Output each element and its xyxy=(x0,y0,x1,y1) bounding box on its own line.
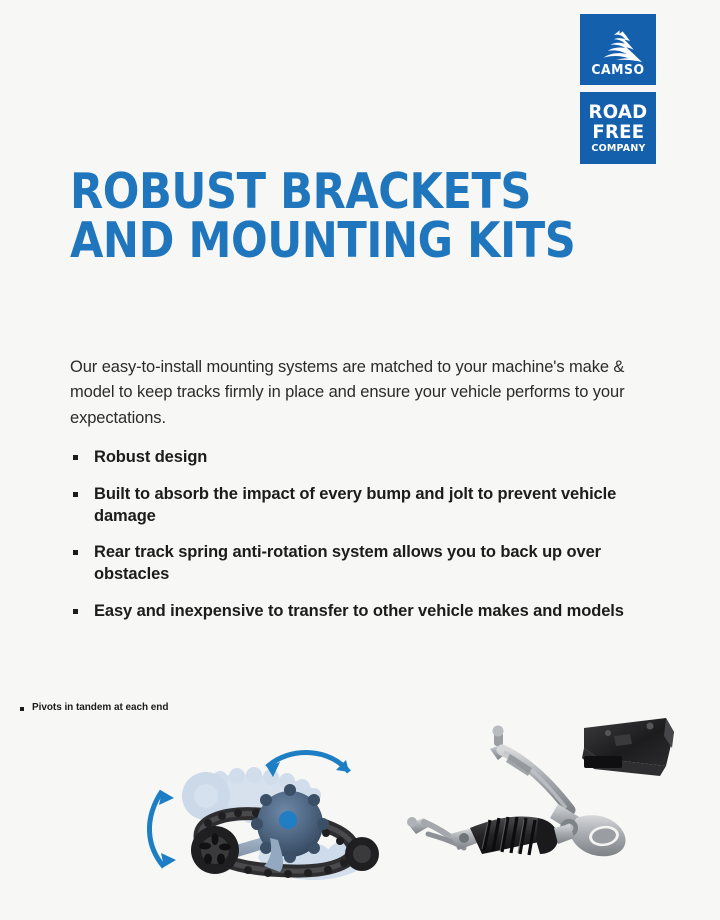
bullet-square-icon xyxy=(73,492,78,497)
intro-paragraph: Our easy-to-install mounting systems are… xyxy=(70,355,630,431)
idler-wheel-right xyxy=(345,837,379,871)
track-system-pivot-diagram xyxy=(130,728,405,898)
camso-logo: CAMSO xyxy=(580,14,656,85)
road-free-company-badge: ROAD FREE COMPANY xyxy=(580,92,656,164)
brand-logo-stack: CAMSO ROAD FREE COMPANY xyxy=(580,14,656,164)
list-item: Built to absorb the impact of every bump… xyxy=(72,484,642,528)
feature-bullet-list: Robust design Built to absorb the impact… xyxy=(72,447,642,623)
mounting-hardware-photo xyxy=(398,712,698,887)
idler-wheel-left xyxy=(191,826,239,874)
bullet-square-icon xyxy=(73,609,78,614)
bullet-square-icon xyxy=(73,455,78,460)
coil-spring-damper xyxy=(407,816,574,855)
list-item: Robust design xyxy=(72,447,642,469)
camso-wordmark: CAMSO xyxy=(591,64,644,78)
bullet-text: Built to absorb the impact of every bump… xyxy=(94,485,616,525)
headline-line-1: ROBUST BRACKETS xyxy=(70,168,563,217)
footnote-caption: Pivots in tandem at each end xyxy=(20,702,168,713)
camso-chevron-mountain-icon xyxy=(594,28,642,62)
bullet-square-icon xyxy=(73,550,78,555)
pivot-arrow-top-icon xyxy=(267,753,349,772)
mounting-bracket xyxy=(582,718,674,776)
headline-line-2: AND MOUNTING KITS xyxy=(70,217,563,266)
badge-line-road: ROAD xyxy=(589,103,648,122)
list-item: Easy and inexpensive to transfer to othe… xyxy=(72,601,642,623)
list-item: Rear track spring anti-rotation system a… xyxy=(72,542,642,586)
bullet-square-icon xyxy=(20,707,24,711)
badge-line-free: FREE xyxy=(592,123,644,142)
bullet-text: Easy and inexpensive to transfer to othe… xyxy=(94,602,624,620)
page-title: ROBUST BRACKETS AND MOUNTING KITS xyxy=(70,168,563,265)
bullet-text: Rear track spring anti-rotation system a… xyxy=(94,543,601,583)
bullet-text: Robust design xyxy=(94,448,207,466)
badge-line-company: COMPANY xyxy=(591,144,645,154)
footnote-text: Pivots in tandem at each end xyxy=(32,702,168,713)
